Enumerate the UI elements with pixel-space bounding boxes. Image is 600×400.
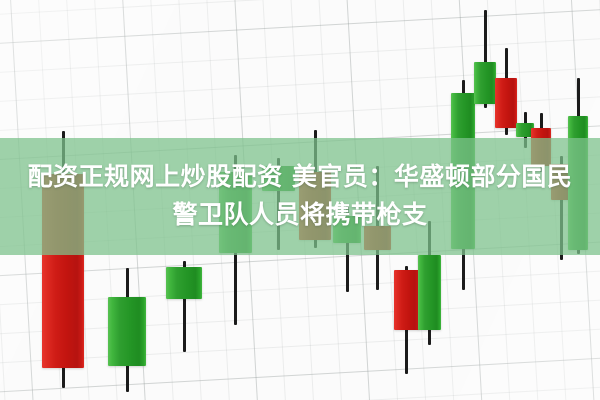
headline-line-1: 配资正规网上炒股配资 美官员：华盛顿部分国民 <box>0 158 600 196</box>
candle-body-up <box>108 297 146 366</box>
candle-body-up <box>166 267 202 299</box>
headline-line-2: 警卫队人员将携带枪支 <box>0 196 600 234</box>
candle-body-down <box>394 270 419 330</box>
candlestick-banner-image: 配资正规网上炒股配资 美官员：华盛顿部分国民 警卫队人员将携带枪支 <box>0 0 600 400</box>
headline-text: 配资正规网上炒股配资 美官员：华盛顿部分国民 警卫队人员将携带枪支 <box>0 158 600 234</box>
candle-body-up <box>418 255 441 330</box>
candle-body-down <box>495 78 517 128</box>
candle-body-up <box>474 62 496 104</box>
